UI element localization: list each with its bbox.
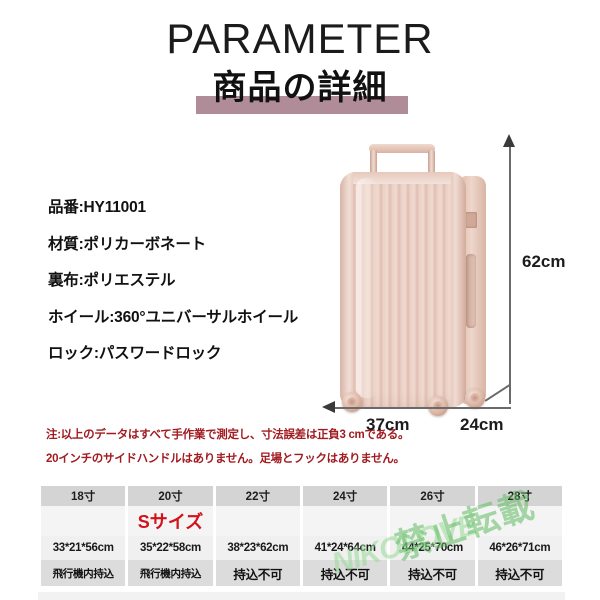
suitcase-right-edge bbox=[451, 172, 466, 407]
dimension-cell: 38*23*62cm bbox=[216, 536, 300, 560]
carryon-cell: 持込不可 bbox=[478, 560, 562, 586]
product-detail-page: PARAMETER 商品の詳細 品番:HY11001 材質:ポリカーボネート 裏… bbox=[0, 0, 600, 600]
carryon-cell: 持込不可 bbox=[390, 560, 474, 586]
size-comparison-table: 18寸 20寸 22寸 24寸 26寸 28寸 Sサイズ 33*21*56cm … bbox=[38, 486, 565, 586]
height-arrow-icon bbox=[503, 134, 515, 147]
size-badge-cell bbox=[216, 506, 300, 536]
table-carryon-row: 飛行機内持込 飛行機内持込 持込不可 持込不可 持込不可 持込不可 bbox=[41, 560, 562, 586]
table-header-cell: 22寸 bbox=[216, 486, 300, 506]
dimension-cell: 35*22*58cm bbox=[128, 536, 212, 560]
dimension-cell: 46*26*71cm bbox=[478, 536, 562, 560]
size-badge-cell bbox=[390, 506, 474, 536]
page-title-english: PARAMETER bbox=[0, 18, 600, 60]
table-header-cell: 24寸 bbox=[303, 486, 387, 506]
note-side-handle: 20インチのサイドハンドルはありません。足場とフックはありません。 bbox=[46, 454, 466, 466]
dimension-cell: 41*24*64cm bbox=[303, 536, 387, 560]
carryon-cell: 飛行機内持込 bbox=[128, 560, 212, 586]
table-header-cell: 26寸 bbox=[390, 486, 474, 506]
table-header-cell: 28寸 bbox=[478, 486, 562, 506]
carryon-cell: 持込不可 bbox=[303, 560, 387, 586]
table-dimensions-row: 33*21*56cm 35*22*58cm 38*23*62cm 41*24*6… bbox=[41, 536, 562, 560]
dimension-cell: 44*25*70cm bbox=[390, 536, 474, 560]
size-badge-cell bbox=[478, 506, 562, 536]
table-footer-strip bbox=[38, 592, 565, 600]
product-image: 62cm 37cm 24cm bbox=[300, 130, 600, 430]
page-title-japanese-wrap: 商品の詳細 bbox=[0, 70, 600, 114]
page-title-japanese: 商品の詳細 bbox=[213, 70, 388, 107]
depth-dimension-line bbox=[485, 384, 511, 402]
size-badge-cell bbox=[41, 506, 125, 536]
width-arrow-icon bbox=[322, 401, 335, 413]
carryon-cell: 飛行機内持込 bbox=[41, 560, 125, 586]
table-header-cell: 20寸 bbox=[128, 486, 212, 506]
notes-block: 注:以上のデータはすべて手作業で測定し、寸法誤差は正負3 cmである。 20イン… bbox=[46, 430, 466, 477]
side-grip-handle bbox=[466, 254, 476, 328]
suitcase-left-edge bbox=[340, 172, 353, 407]
size-badge-cell: Sサイズ bbox=[128, 506, 212, 536]
suitcase-body bbox=[340, 172, 466, 407]
table-header-cell: 18寸 bbox=[41, 486, 125, 506]
depth-dimension-label: 24cm bbox=[460, 415, 503, 435]
suitcase-gloss-highlight bbox=[356, 178, 378, 398]
telescopic-handle-bar bbox=[369, 144, 435, 153]
carryon-cell: 持込不可 bbox=[216, 560, 300, 586]
table-size-badge-row: Sサイズ bbox=[41, 506, 562, 536]
width-dimension-label: 37cm bbox=[366, 415, 409, 435]
combination-lock-icon bbox=[465, 212, 477, 228]
size-badge-cell bbox=[303, 506, 387, 536]
spinner-wheel-icon bbox=[465, 388, 485, 408]
width-dimension-line bbox=[330, 407, 511, 409]
table-header-row: 18寸 20寸 22寸 24寸 26寸 28寸 bbox=[41, 486, 562, 506]
height-dimension-line bbox=[509, 142, 511, 404]
spinner-wheel-icon bbox=[428, 396, 448, 416]
height-dimension-label: 62cm bbox=[522, 252, 565, 272]
dimension-cell: 33*21*56cm bbox=[41, 536, 125, 560]
spinner-wheel-icon bbox=[342, 392, 362, 412]
